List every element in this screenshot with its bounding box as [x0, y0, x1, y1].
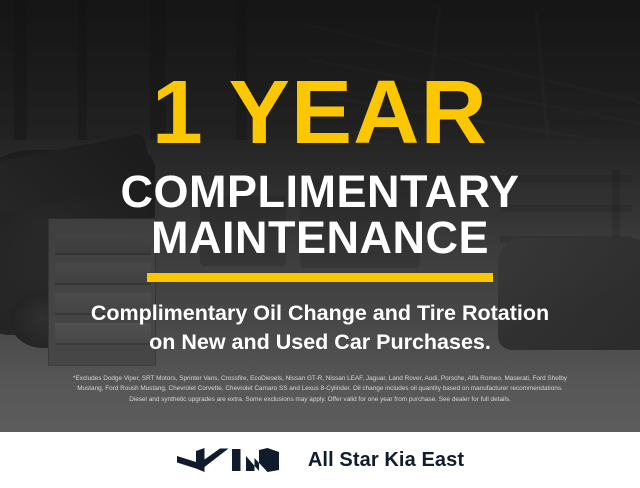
kia-logo-icon	[176, 447, 282, 473]
tagline: Complimentary Oil Change and Tire Rotati…	[91, 299, 549, 356]
hero-section: 1 YEAR COMPLIMENTARY MAINTENANCE Complim…	[0, 0, 640, 432]
headline-secondary-line-1: COMPLIMENTARY	[121, 166, 520, 217]
headline-secondary: COMPLIMENTARY MAINTENANCE	[121, 169, 520, 262]
dealer-name: All Star Kia East	[308, 449, 464, 472]
tagline-line-2: on New and Used Car Purchases.	[91, 328, 549, 356]
headline-primary: 1 YEAR	[152, 72, 488, 155]
hero-text-block: 1 YEAR COMPLIMENTARY MAINTENANCE Complim…	[0, 0, 640, 432]
accent-divider-bar	[147, 273, 493, 282]
headline-secondary-line-2: MAINTENANCE	[121, 215, 520, 261]
tagline-line-1: Complimentary Oil Change and Tire Rotati…	[91, 301, 549, 325]
footer-bar: All Star Kia East	[0, 432, 640, 488]
promotional-banner: 1 YEAR COMPLIMENTARY MAINTENANCE Complim…	[0, 0, 640, 488]
